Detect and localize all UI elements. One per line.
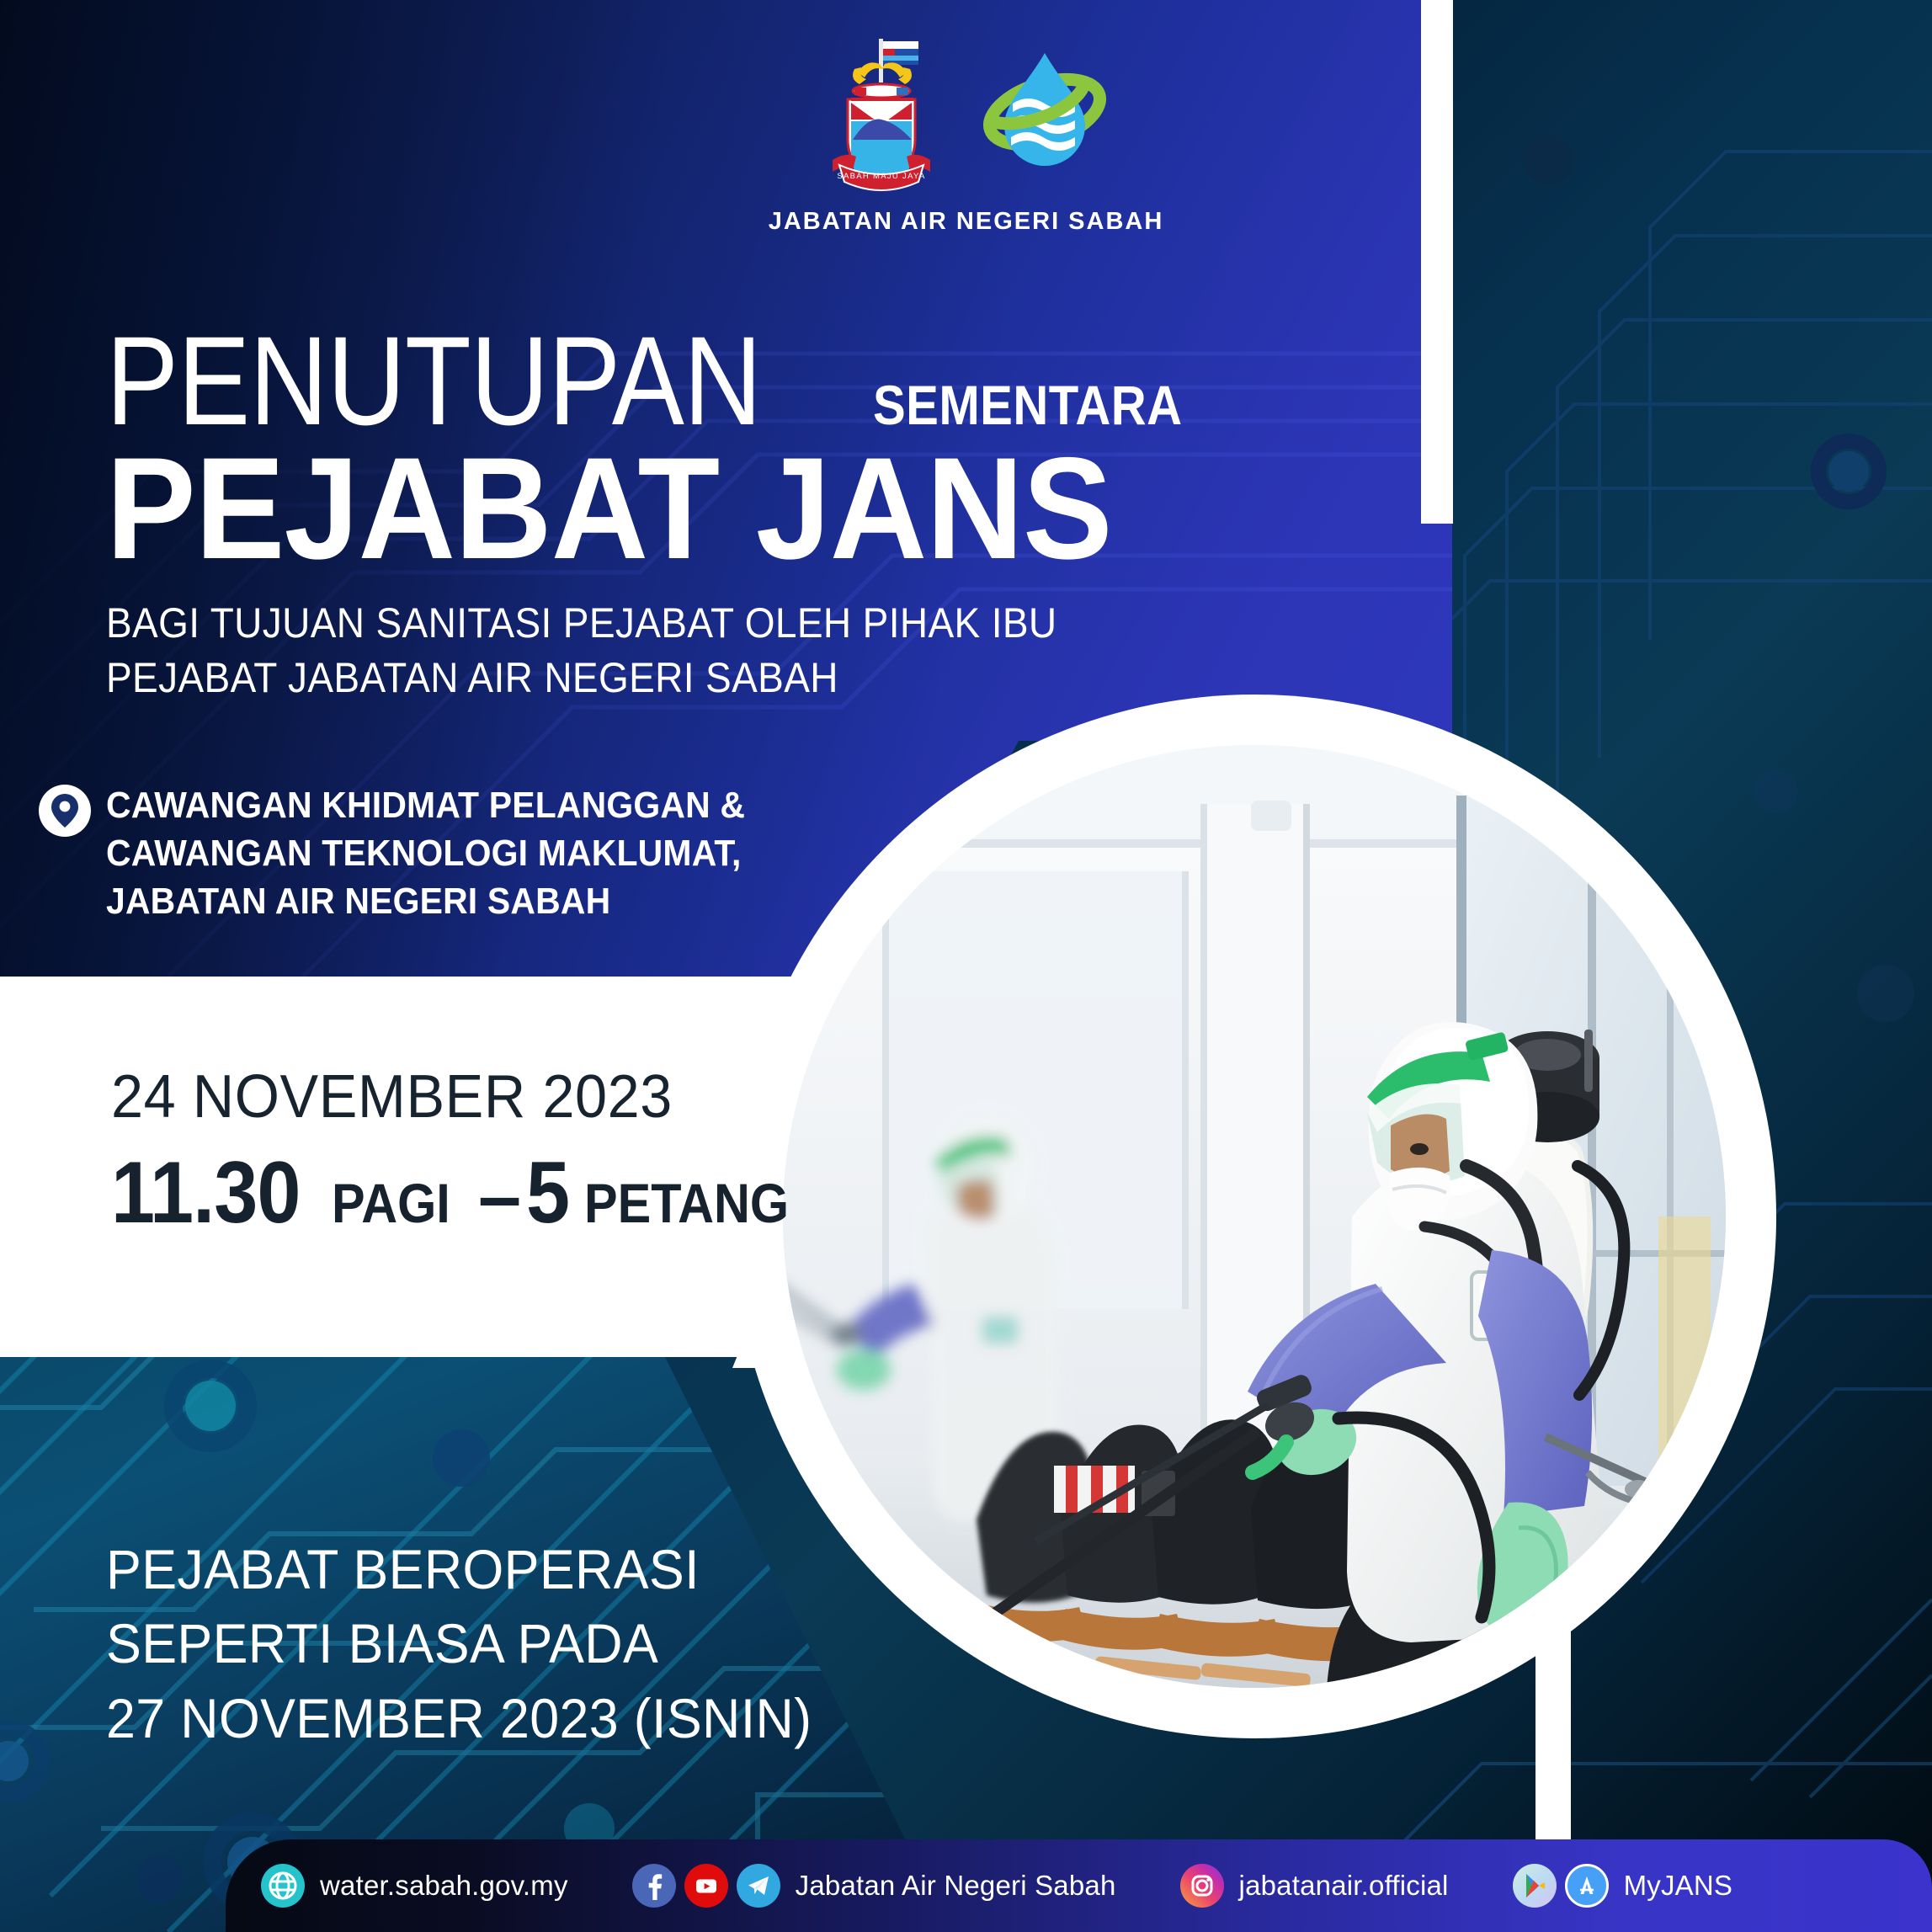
headline-block: PENUTUPAN SEMENTARA PEJABAT JANS BAGI TU… bbox=[106, 322, 1225, 705]
header: SABAH MAJU JAYA bbox=[0, 32, 1932, 236]
reopen-note: PEJABAT BEROPERASI SEPERTI BIASA PADA 27… bbox=[106, 1532, 812, 1755]
time-dash: – bbox=[478, 1152, 521, 1241]
svg-text:SABAH MAJU JAYA: SABAH MAJU JAYA bbox=[837, 172, 925, 181]
end-period: PETANG bbox=[584, 1171, 789, 1235]
start-time: 11.30 bbox=[111, 1143, 301, 1243]
location-block: CAWANGAN KHIDMAT PELANGGAN & CAWANGAN TE… bbox=[39, 781, 793, 926]
globe-icon[interactable] bbox=[261, 1864, 305, 1908]
headline-row-2: PEJABAT JANS bbox=[106, 442, 1147, 575]
footer-website-text[interactable]: water.sabah.gov.my bbox=[320, 1870, 568, 1902]
telegram-icon[interactable] bbox=[737, 1864, 780, 1908]
headline-row-1: PENUTUPAN SEMENTARA bbox=[106, 322, 1225, 440]
closure-time-range: 11.30 PAGI – 5 PETANG bbox=[111, 1143, 812, 1243]
footer-social-icons bbox=[632, 1864, 780, 1908]
footer-website-group[interactable]: water.sabah.gov.my bbox=[261, 1864, 568, 1908]
app-store-icon[interactable] bbox=[1565, 1864, 1609, 1908]
footer-bar: water.sabah.gov.my bbox=[226, 1839, 1932, 1932]
disinfection-photo bbox=[783, 745, 1726, 1688]
headline-subtitle-1: BAGI TUJUAN SANITASI PEJABAT OLEH PIHAK … bbox=[106, 597, 1135, 650]
location-text: CAWANGAN KHIDMAT PELANGGAN & CAWANGAN TE… bbox=[106, 781, 793, 926]
footer-app-group[interactable]: MyJANS bbox=[1513, 1864, 1733, 1908]
google-play-icon[interactable] bbox=[1513, 1864, 1557, 1908]
footer-instagram-handle[interactable]: jabatanair.official bbox=[1239, 1870, 1449, 1902]
logo-row: SABAH MAJU JAYA bbox=[826, 32, 1107, 196]
start-period: PAGI bbox=[332, 1171, 450, 1235]
reopen-line-2: SEPERTI BIASA PADA bbox=[106, 1606, 812, 1680]
poster-canvas: SABAH MAJU JAYA bbox=[0, 0, 1932, 1932]
headline-subtitle-2: PEJABAT JABATAN AIR NEGERI SABAH bbox=[106, 652, 1135, 705]
water-droplet-logo-icon bbox=[982, 45, 1107, 184]
headline-main: PENUTUPAN bbox=[106, 322, 761, 440]
location-line-3: JABATAN AIR NEGERI SABAH bbox=[106, 877, 745, 925]
org-name: JABATAN AIR NEGERI SABAH bbox=[769, 208, 1164, 236]
sabah-state-crest-icon: SABAH MAJU JAYA bbox=[826, 32, 937, 196]
location-line-2: CAWANGAN TEKNOLOGI MAKLUMAT, bbox=[106, 829, 745, 877]
closure-date: 24 NOVEMBER 2023 bbox=[111, 1062, 777, 1131]
instagram-icon[interactable] bbox=[1180, 1864, 1224, 1908]
footer-app-icons bbox=[1513, 1864, 1609, 1908]
schedule-block: 24 NOVEMBER 2023 11.30 PAGI – 5 PETANG bbox=[111, 1062, 812, 1243]
reopen-line-3: 27 NOVEMBER 2023 (ISNIN) bbox=[106, 1681, 812, 1755]
location-line-1: CAWANGAN KHIDMAT PELANGGAN & bbox=[106, 781, 745, 829]
youtube-icon[interactable] bbox=[684, 1864, 728, 1908]
reopen-line-1: PEJABAT BEROPERASI bbox=[106, 1532, 812, 1606]
footer-instagram-group[interactable]: jabatanair.official bbox=[1180, 1864, 1449, 1908]
footer-social-handle[interactable]: Jabatan Air Negeri Sabah bbox=[796, 1870, 1116, 1902]
facebook-icon[interactable] bbox=[632, 1864, 676, 1908]
location-pin-icon bbox=[39, 785, 91, 837]
footer-app-name[interactable]: MyJANS bbox=[1624, 1870, 1733, 1902]
footer-social-group[interactable]: Jabatan Air Negeri Sabah bbox=[632, 1864, 1116, 1908]
end-time: 5 bbox=[526, 1143, 569, 1243]
